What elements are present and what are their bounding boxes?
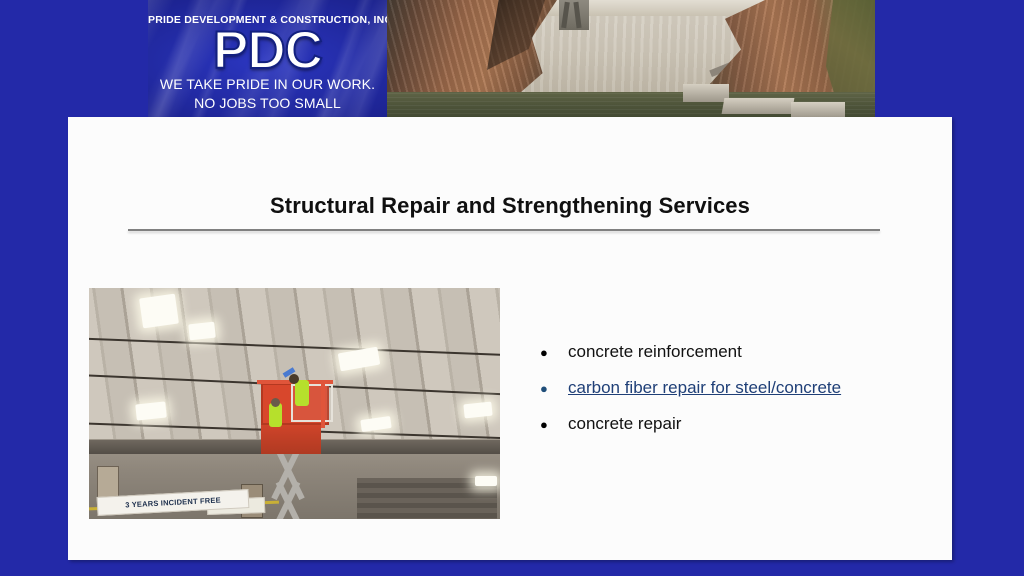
dam-outlet-works: [683, 84, 729, 102]
slide: PRIDE DEVELOPMENT & CONSTRUCTION, INC. P…: [0, 0, 1024, 576]
worker-figure: [295, 380, 309, 406]
logo-wordmark: PDC: [148, 24, 387, 77]
safety-banner-text: 3 YEARS INCIDENT FREE: [98, 494, 248, 511]
services-list: ● concrete reinforcement ● carbon fiber …: [540, 342, 930, 450]
warehouse-door: [97, 466, 119, 500]
ceiling-repair-photo: 3 YEARS INCIDENT FREE: [89, 288, 500, 519]
carbon-fiber-repair-link[interactable]: carbon fiber repair for steel/concrete: [568, 378, 841, 398]
logo-tagline-line2: NO JOBS TOO SMALL: [148, 95, 387, 111]
title-divider: [128, 229, 880, 231]
bullet-icon: ●: [540, 415, 568, 435]
bullet-icon: ●: [540, 343, 568, 363]
bullet-icon: ●: [540, 379, 568, 399]
pdc-logo-image: PRIDE DEVELOPMENT & CONSTRUCTION, INC. P…: [148, 0, 387, 118]
dam-outlet-works: [722, 98, 795, 114]
ceiling-light: [463, 402, 492, 419]
list-item: ● concrete repair: [540, 414, 930, 435]
ceiling-light: [188, 322, 216, 341]
list-item: ● carbon fiber repair for steel/concrete: [540, 378, 930, 399]
logo-tagline-line1: WE TAKE PRIDE IN OUR WORK.: [148, 76, 387, 92]
page-title: Structural Repair and Strengthening Serv…: [68, 193, 952, 219]
list-item-label: concrete reinforcement: [568, 342, 742, 362]
ceiling-light: [475, 476, 497, 486]
dam-photo: [387, 0, 875, 118]
content-card: Structural Repair and Strengthening Serv…: [68, 117, 952, 560]
header-band: PRIDE DEVELOPMENT & CONSTRUCTION, INC. P…: [0, 0, 1024, 118]
scissor-lift-rail: [321, 380, 325, 428]
list-item: ● concrete reinforcement: [540, 342, 930, 363]
worker-head: [271, 398, 280, 407]
list-item-label: concrete repair: [568, 414, 681, 434]
ceiling-light: [135, 401, 167, 420]
worker-head: [289, 374, 299, 384]
ceiling-light: [139, 294, 179, 329]
dam-outlet-works: [791, 102, 845, 118]
